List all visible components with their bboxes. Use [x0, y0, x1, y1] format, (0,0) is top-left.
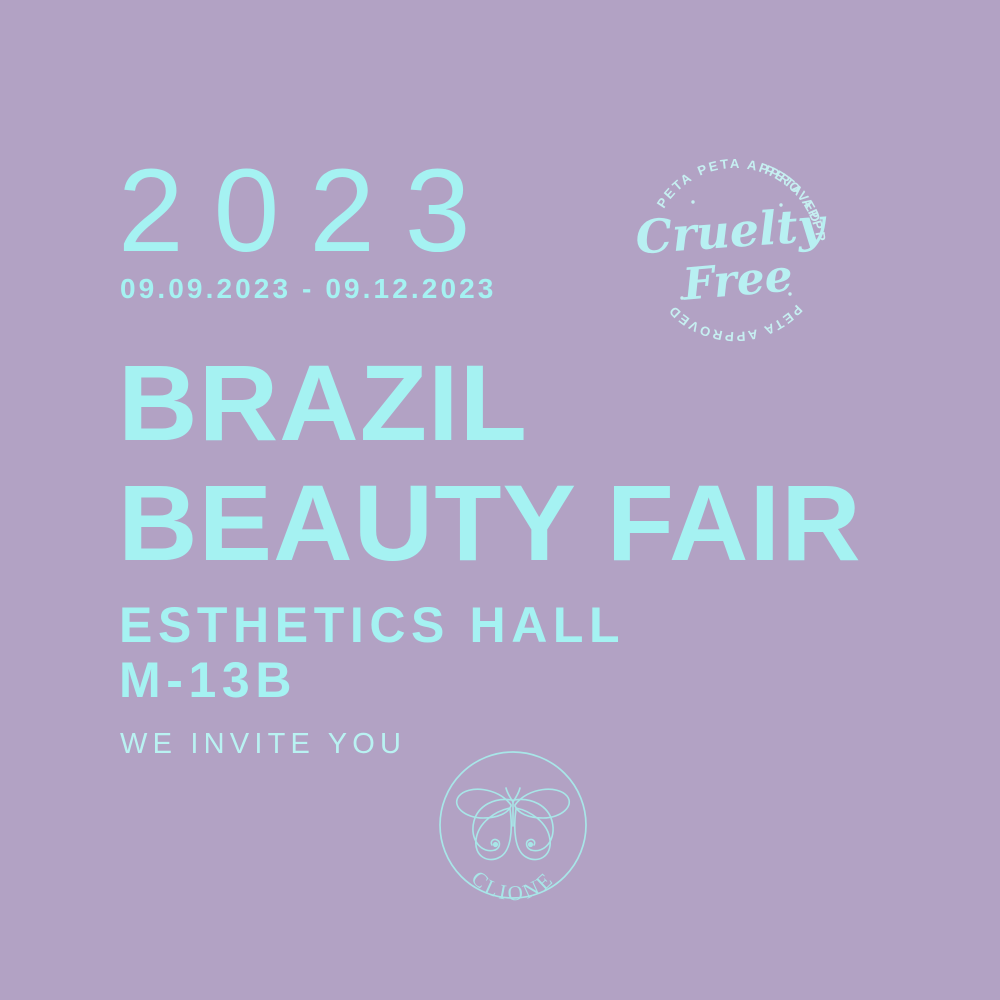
invitation-text: WE INVITE YOU — [120, 730, 406, 759]
event-title-line-1: BRAZIL — [118, 352, 528, 455]
event-dates: 09.09.2023 - 09.12.2023 — [120, 275, 496, 303]
poster-canvas: 2023 09.09.2023 - 09.12.2023 BRAZIL BEAU… — [0, 0, 1000, 1000]
event-year: 2023 — [118, 152, 501, 270]
logo-butterfly-mark — [457, 788, 570, 860]
peta-ring-label-top: PETA — [654, 169, 696, 211]
peta-separator-dot — [691, 200, 694, 203]
event-venue-line-2: M-13B — [119, 655, 297, 705]
event-venue-line-1: ESTHETICS HALL — [119, 600, 625, 650]
logo-wordmark: CLIONE — [467, 866, 560, 906]
peta-cruelty-free-badge: PETA PETA APPROVED PETA APPROVED PETA AP… — [635, 150, 835, 350]
peta-script-free: Free — [679, 250, 795, 311]
clione-brand-logo: CLIONE — [438, 748, 588, 908]
event-title-line-2: BEAUTY FAIR — [118, 472, 862, 575]
